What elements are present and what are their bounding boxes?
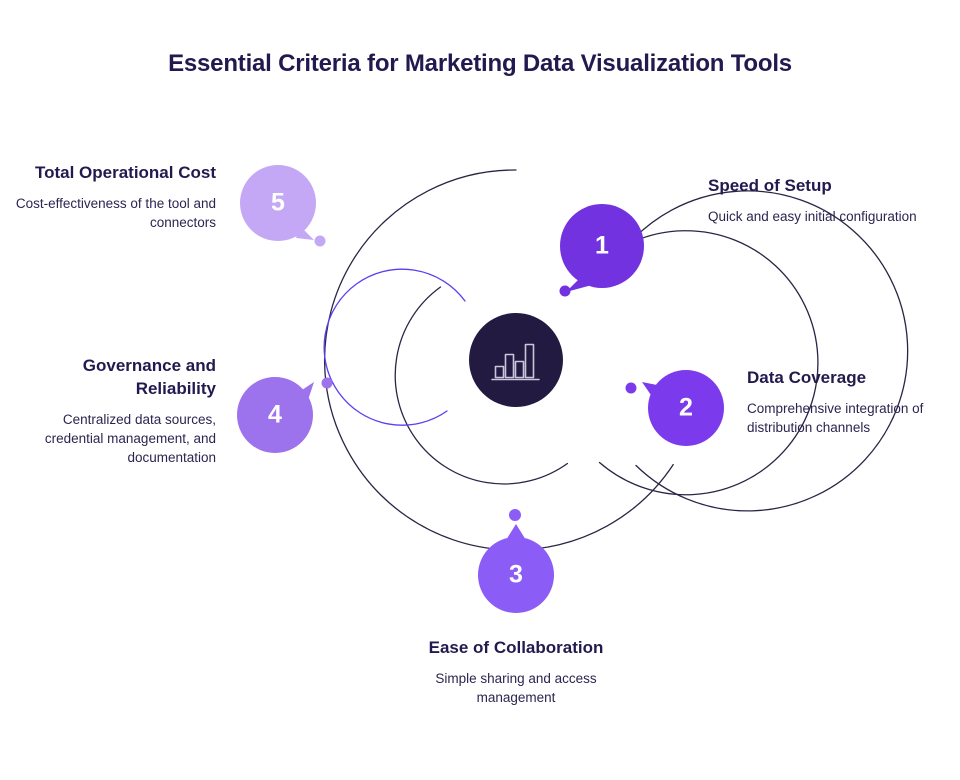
badge-4[interactable] <box>237 377 314 453</box>
badge-2[interactable] <box>642 370 724 446</box>
callout-title: Ease of Collaboration <box>400 637 632 660</box>
connector-dot-2 <box>626 383 637 394</box>
callout-governance-and-reliability: Governance and Reliability Centralized d… <box>14 355 216 467</box>
ring-arc-4 <box>624 191 907 511</box>
center-disc <box>469 313 563 407</box>
connector-dot-3 <box>509 509 521 521</box>
connector-dot-4 <box>322 378 333 389</box>
callout-speed-of-setup: Speed of Setup Quick and easy initial co… <box>708 175 923 226</box>
callout-description: Centralized data sources, credential man… <box>14 410 216 467</box>
callout-ease-of-collaboration: Ease of Collaboration Simple sharing and… <box>400 637 632 707</box>
callout-title: Governance and Reliability <box>14 355 216 401</box>
connector-dot-5 <box>315 236 326 247</box>
badge-1[interactable] <box>560 204 644 292</box>
callout-data-coverage: Data Coverage Comprehensive integration … <box>747 367 942 437</box>
callout-title: Data Coverage <box>747 367 942 390</box>
callout-description: Cost-effectiveness of the tool and conne… <box>14 194 216 232</box>
callout-title: Speed of Setup <box>708 175 923 198</box>
callout-total-operational-cost: Total Operational Cost Cost-effectivenes… <box>14 162 216 232</box>
callout-description: Quick and easy initial configuration <box>708 207 923 226</box>
callout-description: Simple sharing and access management <box>400 669 632 707</box>
callout-title: Total Operational Cost <box>14 162 216 185</box>
callout-description: Comprehensive integration of distributio… <box>747 399 942 437</box>
ring-arc-1 <box>324 269 465 425</box>
badge-3[interactable] <box>478 524 554 613</box>
badge-5[interactable] <box>240 165 316 241</box>
